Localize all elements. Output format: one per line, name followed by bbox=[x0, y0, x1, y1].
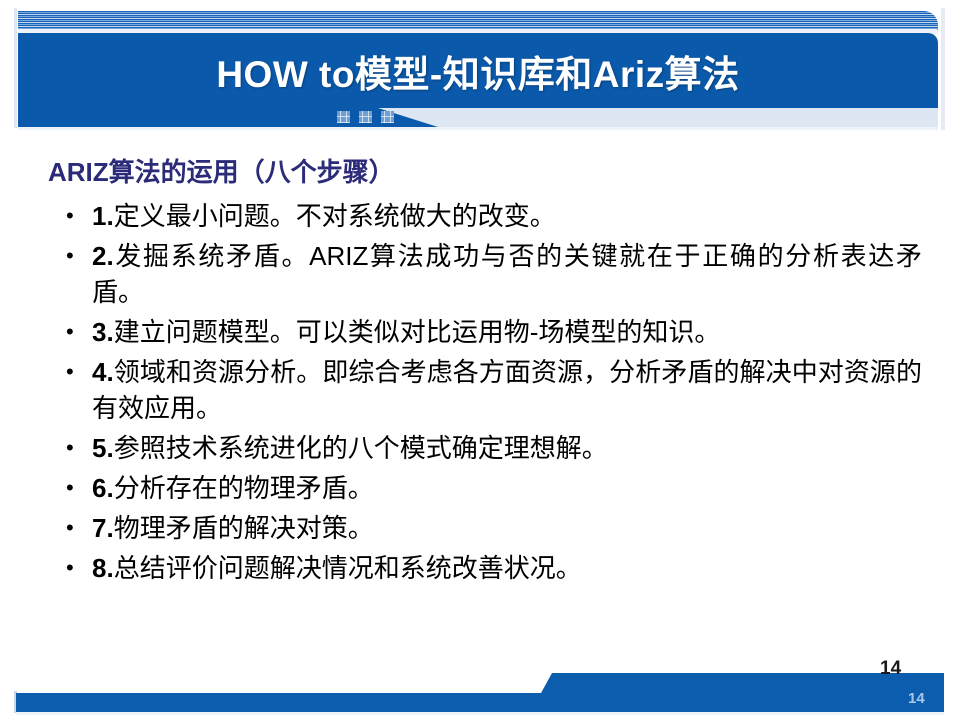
slide-header: HOW to模型-知识库和Ariz算法 bbox=[0, 0, 960, 136]
bullet-number: 1. bbox=[92, 201, 114, 231]
bullet-text: 分析存在的物理矛盾。 bbox=[114, 473, 374, 503]
bullet-number: 7. bbox=[92, 513, 114, 543]
bullet-item: 7.物理矛盾的解决对策。 bbox=[62, 510, 922, 546]
bullet-text: 物理矛盾的解决对策。 bbox=[114, 513, 374, 543]
bullet-number: 2. bbox=[92, 241, 114, 271]
bullet-item: 6.分析存在的物理矛盾。 bbox=[62, 470, 922, 506]
bullet-number: 5. bbox=[92, 433, 114, 463]
square-decoration-icon bbox=[359, 111, 372, 123]
page-number-secondary: 14 bbox=[908, 690, 925, 707]
bullet-text: 领域和资源分析。即综合考虑各方面资源，分析矛盾的解决中对资源的有效应用。 bbox=[92, 357, 922, 423]
header-foot-strip bbox=[18, 108, 938, 127]
header-frame-right-edge bbox=[941, 8, 945, 130]
bullet-item: 3.建立问题模型。可以类似对比运用物-场模型的知识。 bbox=[62, 314, 922, 350]
square-decoration-icon bbox=[337, 111, 350, 123]
footer-bar-lower bbox=[16, 693, 944, 712]
bullet-text: 总结评价问题解决情况和系统改善状况。 bbox=[114, 553, 582, 583]
bullet-number: 8. bbox=[92, 553, 114, 583]
bullet-number: 6. bbox=[92, 473, 114, 503]
footer-left-edge bbox=[14, 691, 17, 713]
header-foot-highlight-line bbox=[18, 127, 938, 130]
bullet-text: 参照技术系统进化的八个模式确定理想解。 bbox=[114, 433, 608, 463]
footer-bar-stepped bbox=[530, 673, 944, 713]
bullet-number: 3. bbox=[92, 317, 114, 347]
bullet-list: 1.定义最小问题。不对系统做大的改变。2.发掘系统矛盾。ARIZ算法成功与否的关… bbox=[62, 198, 922, 590]
footer-baseline bbox=[16, 712, 944, 715]
bullet-text: 建立问题模型。可以类似对比运用物-场模型的知识。 bbox=[114, 317, 721, 347]
bullet-number: 4. bbox=[92, 357, 114, 387]
section-heading: ARIZ算法的运用（八个步骤） bbox=[48, 152, 395, 189]
header-frame-left-edge bbox=[14, 8, 17, 128]
bullet-item: 4.领域和资源分析。即综合考虑各方面资源，分析矛盾的解决中对资源的有效应用。 bbox=[62, 354, 922, 426]
page-number: 14 bbox=[880, 658, 901, 680]
header-decorative-squares bbox=[337, 111, 394, 123]
slide: HOW to模型-知识库和Ariz算法 ARIZ算法的运用（八个步骤） 1.定义… bbox=[0, 0, 960, 720]
square-decoration-icon bbox=[381, 111, 394, 123]
bullet-item: 8.总结评价问题解决情况和系统改善状况。 bbox=[62, 550, 922, 586]
header-stripe-pattern bbox=[18, 11, 938, 31]
bullet-text: 定义最小问题。不对系统做大的改变。 bbox=[114, 201, 556, 231]
slide-title: HOW to模型-知识库和Ariz算法 bbox=[18, 33, 938, 108]
bullet-item: 2.发掘系统矛盾。ARIZ算法成功与否的关键就在于正确的分析表达矛盾。 bbox=[62, 238, 922, 310]
bullet-text: 发掘系统矛盾。ARIZ算法成功与否的关键就在于正确的分析表达矛盾。 bbox=[92, 241, 922, 307]
bullet-item: 5.参照技术系统进化的八个模式确定理想解。 bbox=[62, 430, 922, 466]
header-title-bar: HOW to模型-知识库和Ariz算法 bbox=[18, 33, 938, 108]
bullet-item: 1.定义最小问题。不对系统做大的改变。 bbox=[62, 198, 922, 234]
